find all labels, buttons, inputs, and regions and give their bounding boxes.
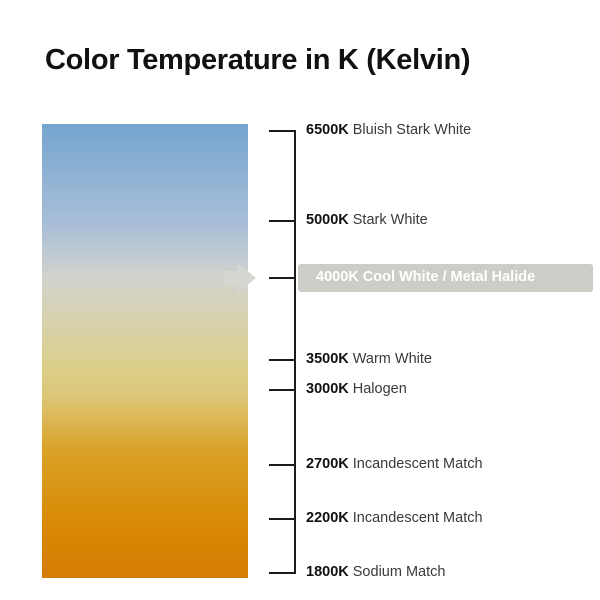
scale-tick-mark: [269, 220, 296, 222]
kelvin-value: 2200K: [306, 510, 349, 526]
color-temperature-chart: Color Temperature in K (Kelvin) 6500K Bl…: [0, 0, 600, 600]
scale-tick-mark: [269, 464, 296, 466]
scale-tick-label: 2200K Incandescent Match: [306, 508, 483, 528]
kelvin-value: 2700K: [306, 456, 349, 472]
scale-tick-mark: [269, 277, 296, 279]
color-temperature-gradient-bar: [42, 124, 248, 578]
scale-tick-label: 2700K Incandescent Match: [306, 454, 483, 474]
kelvin-description: Warm White: [349, 351, 432, 367]
kelvin-value: 6500K: [306, 122, 349, 138]
scale-tick-label: 3500K Warm White: [306, 349, 432, 369]
page-title: Color Temperature in K (Kelvin): [45, 44, 470, 77]
kelvin-value: 3500K: [306, 351, 349, 367]
kelvin-value: 5000K: [306, 212, 349, 228]
scale-axis-line: [294, 130, 296, 574]
scale-tick-mark: [269, 572, 296, 574]
highlighted-temperature-label: 4000K Cool White / Metal Halide: [316, 267, 535, 287]
scale-tick-label: 3000K Halogen: [306, 379, 407, 399]
kelvin-description: Incandescent Match: [349, 456, 483, 472]
highlight-pointer-arrow-icon: [238, 263, 256, 293]
scale-tick-mark: [269, 359, 296, 361]
scale-tick-label: 5000K Stark White: [306, 210, 428, 230]
scale-tick-mark: [269, 518, 296, 520]
kelvin-value: 1800K: [306, 564, 349, 580]
scale-tick-label: 1800K Sodium Match: [306, 562, 445, 582]
kelvin-description: Bluish Stark White: [349, 122, 472, 138]
kelvin-value: 3000K: [306, 381, 349, 397]
kelvin-description: Sodium Match: [349, 564, 446, 580]
kelvin-description: Incandescent Match: [349, 510, 483, 526]
scale-tick-mark: [269, 389, 296, 391]
scale-tick-label: 6500K Bluish Stark White: [306, 120, 471, 140]
scale-tick-mark: [269, 130, 296, 132]
kelvin-description: Stark White: [349, 212, 428, 228]
kelvin-description: Halogen: [349, 381, 407, 397]
